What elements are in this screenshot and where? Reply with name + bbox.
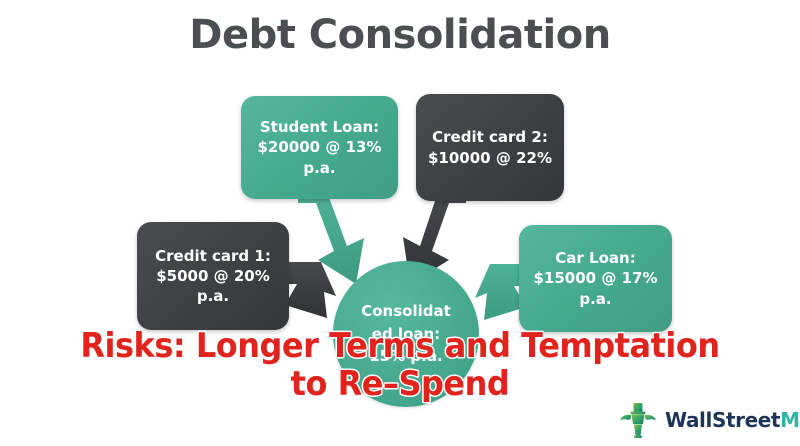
consolidated-loan-line-1: Consolidat bbox=[333, 300, 479, 323]
debt-box-credit-card-2-label: Credit card 2: $10000 @ 22% bbox=[426, 127, 554, 168]
debt-box-car-loan[interactable]: Car Loan: $15000 @ 17% p.a. bbox=[519, 225, 672, 332]
debt-box-student-loan-label: Student Loan: $20000 @ 13% p.a. bbox=[251, 117, 388, 178]
debt-box-car-loan-label: Car Loan: $15000 @ 17% p.a. bbox=[529, 248, 662, 309]
wallstreetmojo-wordmark: WallStreetMojo bbox=[665, 408, 800, 432]
arrow-credit-card-1-to-center bbox=[282, 262, 336, 318]
risks-overlay-line-1: Risks: Longer Terms and Temptation bbox=[24, 327, 776, 365]
arrow-student-loan-to-center bbox=[298, 192, 364, 284]
debt-box-student-loan[interactable]: Student Loan: $20000 @ 13% p.a. bbox=[241, 96, 398, 199]
page-title: Debt Consolidation bbox=[0, 12, 800, 58]
risks-overlay-text: Risks: Longer Terms and Temptation to Re… bbox=[24, 327, 776, 403]
wallstreetmojo-bull-icon bbox=[617, 400, 659, 440]
debt-box-credit-card-1[interactable]: Credit card 1: $5000 @ 20% p.a. bbox=[137, 222, 289, 330]
debt-box-credit-card-1-label: Credit card 1: $5000 @ 20% p.a. bbox=[147, 246, 279, 307]
logo-word-mojo: Mojo bbox=[780, 408, 800, 432]
debt-consolidation-infographic: Debt Consolidation bbox=[0, 0, 800, 446]
debt-box-credit-card-2[interactable]: Credit card 2: $10000 @ 22% bbox=[416, 94, 564, 201]
wallstreetmojo-logo[interactable]: WallStreetMojo bbox=[617, 398, 795, 442]
logo-word-wallstreet: WallStreet bbox=[665, 408, 780, 432]
